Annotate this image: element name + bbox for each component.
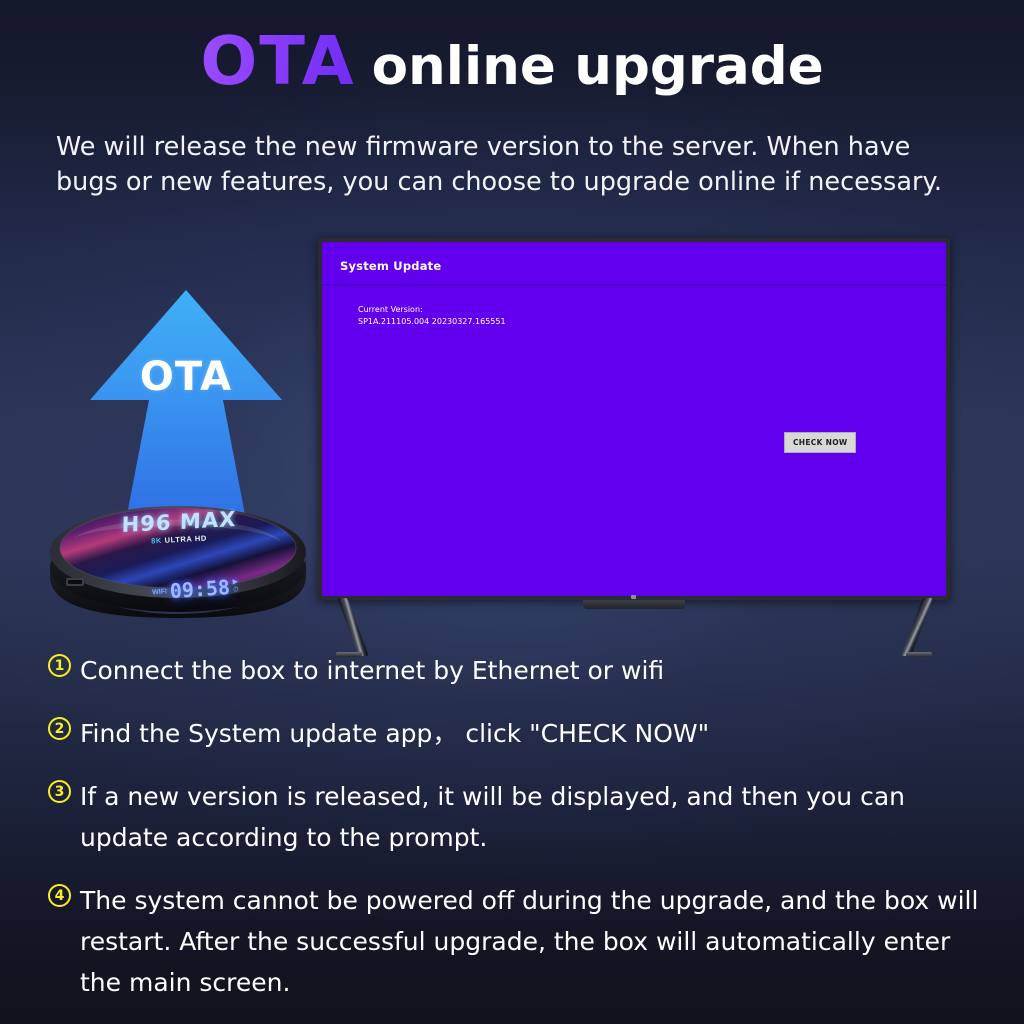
list-item: 4 The system cannot be powered off durin… <box>48 880 988 1003</box>
tv-screen: System Update Current Version: SP1A.2111… <box>322 242 946 596</box>
intro-paragraph: We will release the new firmware version… <box>56 130 980 200</box>
step-text: If a new version is released, it will be… <box>80 776 988 858</box>
current-version-block: Current Version: SP1A.211105.004 2023032… <box>358 304 506 328</box>
step-text: Find the System update app， click "CHECK… <box>80 713 709 754</box>
tv-bezel: System Update Current Version: SP1A.2111… <box>318 238 950 600</box>
ota-arrow-label: OTA <box>86 354 286 400</box>
list-item: 1 Connect the box to internet by Etherne… <box>48 650 988 691</box>
tv-ir-sensor <box>631 595 636 599</box>
tv-leg-left <box>337 598 369 656</box>
check-now-button[interactable]: CHECK NOW <box>784 432 856 453</box>
title-rest-words: online upgrade <box>372 36 824 97</box>
tv-center-module <box>583 600 685 609</box>
tv-leg-right <box>901 598 933 656</box>
page-title: OTAonline upgrade <box>0 22 1024 100</box>
step-number-badge: 4 <box>48 884 71 907</box>
current-version-label: Current Version: <box>358 304 506 316</box>
system-update-title: System Update <box>340 259 441 273</box>
current-version-value: SP1A.211105.004 20230327.165551 <box>358 316 506 328</box>
step-text: Connect the box to internet by Ethernet … <box>80 650 664 691</box>
list-item: 3 If a new version is released, it will … <box>48 776 988 858</box>
title-accent-word: OTA <box>200 22 355 100</box>
tv-box-device: H96 MAX 8K ULTRA HD WIFI 09:58 ▶⏱ <box>44 492 312 620</box>
ota-upgrade-infographic: OTAonline upgrade We will release the ne… <box>0 0 1024 1024</box>
list-item: 2 Find the System update app， click "CHE… <box>48 713 988 754</box>
led-status-icons: ▶⏱ <box>232 578 239 594</box>
step-number-badge: 3 <box>48 780 71 803</box>
ota-arrow: OTA <box>86 288 286 523</box>
wifi-icon: WIFI <box>152 588 167 596</box>
step-number-badge: 1 <box>48 654 71 677</box>
ota-arrow-icon <box>86 288 286 523</box>
led-clock-value: 09:58 <box>169 575 231 603</box>
steps-list: 1 Connect the box to internet by Etherne… <box>48 650 988 1024</box>
step-text: The system cannot be powered off during … <box>80 880 988 1003</box>
app-header-divider <box>322 284 946 286</box>
step-number-badge: 2 <box>48 717 71 740</box>
television: System Update Current Version: SP1A.2111… <box>318 238 950 633</box>
